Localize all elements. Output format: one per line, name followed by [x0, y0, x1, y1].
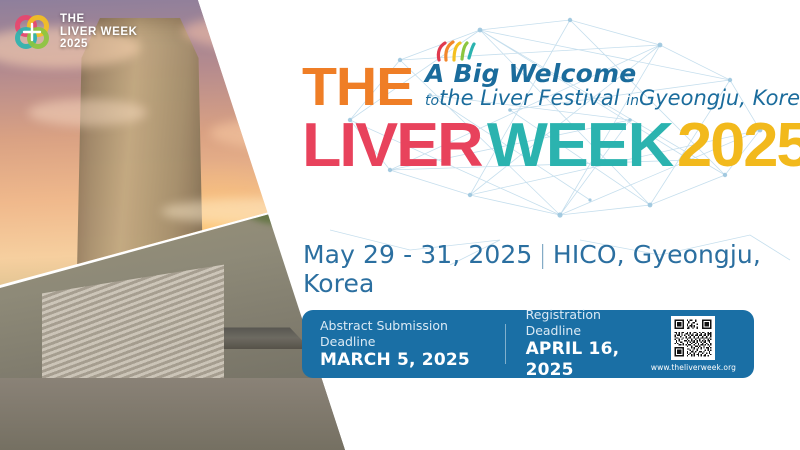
- script-tagline: A Big Welcome tothe Liver Festival inGye…: [425, 60, 800, 113]
- sponsor-strip: The Korean Association for the Study of …: [0, 390, 800, 450]
- website-url[interactable]: www.theliverweek.org: [651, 363, 736, 372]
- title-word-year: 2025: [677, 115, 800, 177]
- deadline-divider: [505, 324, 506, 364]
- script-word-to: to: [425, 93, 439, 109]
- abstract-deadline-label: Abstract Submission Deadline: [320, 318, 479, 350]
- qr-block[interactable]: www.theliverweek.org: [651, 316, 736, 372]
- registration-deadline-date: APRIL 16, 2025: [526, 339, 651, 381]
- date-venue-line: May 29 - 31, 2025|HICO, Gyeongju, Korea: [303, 240, 800, 298]
- script-word-festival: the Liver Festival: [439, 86, 619, 110]
- corner-badge-line2: LIVER WEEK: [60, 26, 138, 39]
- rainbow-flourish-icon: [431, 38, 477, 62]
- registration-deadline-block: Registration Deadline APRIL 16, 2025: [526, 307, 651, 381]
- headline-top-row: THE A Big Welcome tothe Liver Festival i…: [302, 62, 772, 113]
- corner-badge-line3: 2025: [60, 38, 138, 51]
- corner-logo-badge: THE LIVER WEEK 2025: [12, 12, 138, 52]
- title-word-liver: LIVER: [302, 115, 481, 177]
- abstract-deadline-block: Abstract Submission Deadline MARCH 5, 20…: [320, 318, 479, 371]
- liver-week-knot-emblem-icon: [12, 12, 52, 52]
- headline-main-row: LIVER WEEK 2025: [302, 115, 772, 177]
- deadline-bar: Abstract Submission Deadline MARCH 5, 20…: [302, 310, 754, 378]
- title-word-week: WEEK: [487, 115, 672, 177]
- conference-banner: THE LIVER WEEK 2025 THE A Big Welcome: [0, 0, 800, 450]
- qr-code-icon[interactable]: [671, 316, 715, 360]
- abstract-deadline-date: MARCH 5, 2025: [320, 350, 479, 371]
- title-word-the: THE: [302, 62, 413, 112]
- script-line-1: A Big Welcome: [425, 60, 800, 87]
- script-word-in: in: [626, 93, 639, 109]
- registration-deadline-label: Registration Deadline: [526, 307, 651, 339]
- script-word-gyeongju: Gyeongju, Korea !: [639, 86, 800, 110]
- headline-block: THE A Big Welcome tothe Liver Festival i…: [302, 62, 772, 177]
- dateline-separator: |: [532, 240, 553, 269]
- script-line-2: tothe Liver Festival inGyeongju, Korea !: [425, 87, 800, 113]
- corner-badge-line1: THE: [60, 13, 138, 26]
- corner-badge-text: THE LIVER WEEK 2025: [60, 13, 138, 51]
- event-dates: May 29 - 31, 2025: [303, 240, 532, 269]
